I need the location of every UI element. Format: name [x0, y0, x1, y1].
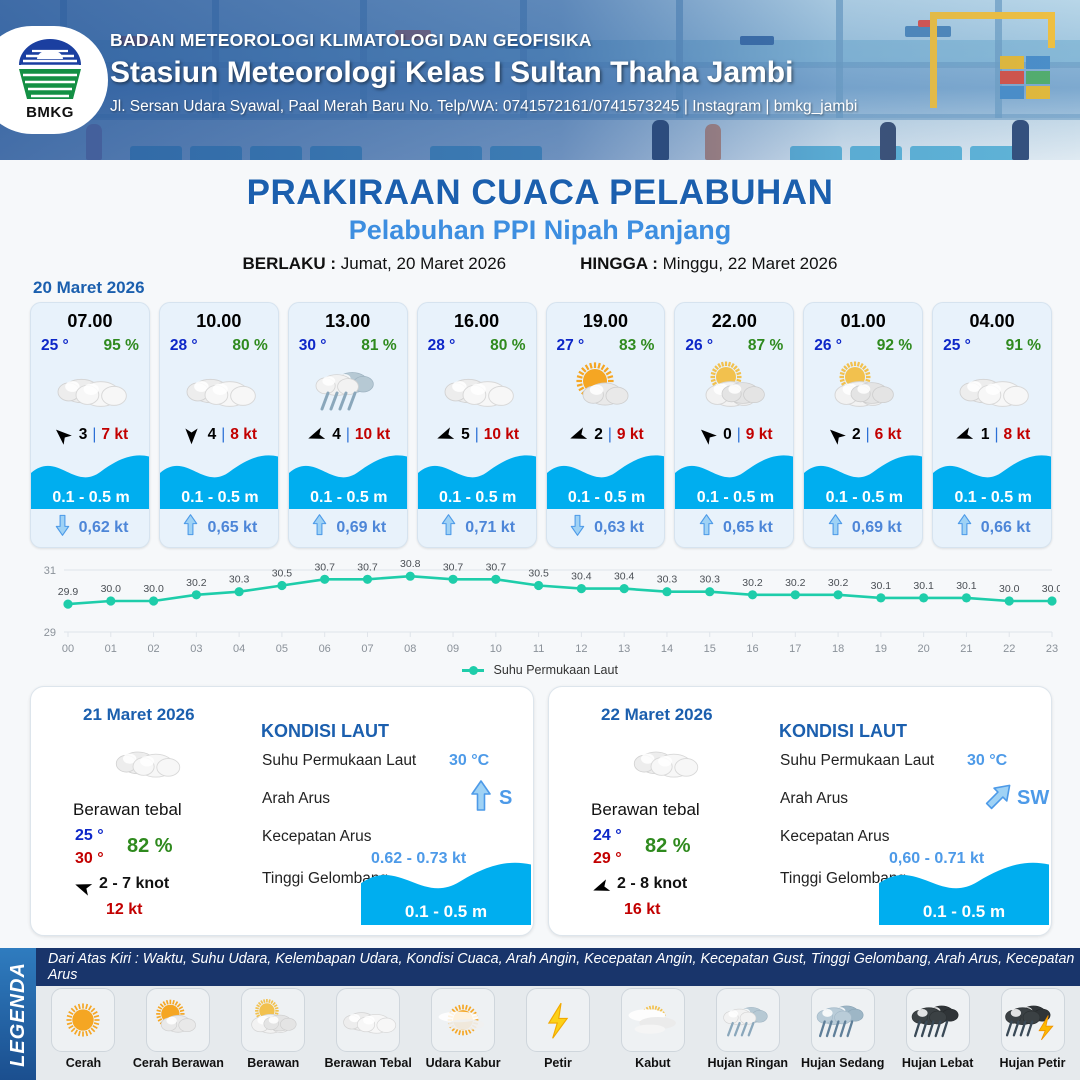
card-wind: 2 | 6 kt	[804, 425, 922, 445]
validity-row: BERLAKU : Jumat, 20 Maret 2026 HINGGA : …	[0, 254, 1080, 274]
svg-text:30.7: 30.7	[314, 561, 335, 573]
card-gust: 9 kt	[617, 426, 644, 444]
valid-from: BERLAKU : Jumat, 20 Maret 2026	[243, 254, 507, 274]
legend-item: Udara Kabur	[416, 988, 511, 1080]
current-speed-label: Kecepatan Arus	[262, 828, 371, 846]
card-temperature: 26 °	[685, 337, 713, 355]
svg-text:03: 03	[190, 643, 202, 655]
svg-text:15: 15	[704, 643, 716, 655]
card-wave-height: 0.1 - 0.5 m	[418, 489, 537, 507]
svg-text:30.2: 30.2	[785, 577, 806, 589]
wind-direction-arrow-icon	[305, 425, 327, 445]
svg-text:30.8: 30.8	[400, 558, 421, 570]
svg-text:30.7: 30.7	[357, 561, 378, 573]
wind-direction-arrow-icon	[696, 425, 718, 445]
current-direction-label: Arah Arus	[262, 790, 330, 808]
svg-text:30.3: 30.3	[229, 574, 250, 586]
card-current: 0,62 kt	[31, 514, 150, 541]
card-current-speed: 0,63 kt	[594, 519, 644, 537]
svg-text:30.4: 30.4	[614, 571, 635, 583]
legend-item: Hujan Ringan	[700, 988, 795, 1080]
valid-until-value: Minggu, 22 Maret 2026	[663, 254, 838, 273]
card-current: 0,69 kt	[289, 514, 408, 541]
legend-item-label: Cerah	[66, 1056, 101, 1070]
svg-text:08: 08	[404, 643, 416, 655]
panel-gust: 16 kt	[624, 901, 660, 919]
hujan-ringan-icon	[289, 359, 407, 419]
wind-direction-arrow-icon	[181, 425, 203, 445]
card-current-speed: 0,62 kt	[79, 519, 129, 537]
svg-text:30.3: 30.3	[700, 574, 721, 586]
svg-text:30.7: 30.7	[486, 561, 507, 573]
panel-temp-min: 24 °	[593, 827, 622, 845]
card-current-speed: 0,69 kt	[336, 519, 386, 537]
wind-gust-separator: |	[608, 426, 612, 444]
card-time: 13.00	[289, 311, 407, 332]
card-wind-speed: 4	[208, 426, 217, 444]
legend-item: Hujan Petir	[985, 988, 1080, 1080]
svg-text:02: 02	[147, 643, 159, 655]
svg-text:09: 09	[447, 643, 459, 655]
current-direction-value: S	[499, 787, 512, 810]
forecast-day-date: 20 Maret 2026	[33, 278, 145, 298]
panel-wave-height: 0.1 - 0.5 m	[879, 902, 1049, 922]
card-time: 19.00	[547, 311, 665, 332]
svg-text:07: 07	[361, 643, 373, 655]
svg-text:30.5: 30.5	[272, 568, 293, 580]
chart-legend: Suhu Permukaan Laut	[0, 663, 1080, 677]
card-humidity: 91 %	[1006, 337, 1041, 355]
svg-text:30.0: 30.0	[143, 583, 164, 595]
card-wind-speed: 2	[594, 426, 603, 444]
card-wind: 3 | 7 kt	[31, 425, 149, 445]
legend-item-label: Berawan	[247, 1056, 299, 1070]
sea-condition-title: KONDISI LAUT	[261, 721, 389, 742]
bmkg-logo: BMKG	[0, 26, 108, 134]
cerah-icon	[51, 988, 115, 1052]
wind-direction-arrow-icon	[52, 425, 74, 445]
hourly-forecast-row: 07.00 25 ° 95 % 3 | 7 kt 0.1 - 0.5 m 0,6…	[30, 302, 1052, 548]
svg-text:31: 31	[44, 565, 56, 577]
card-wave-height: 0.1 - 0.5 m	[547, 489, 666, 507]
berawan-icon	[241, 988, 305, 1052]
card-wind-speed: 5	[461, 426, 470, 444]
panel-condition: Berawan tebal	[73, 800, 182, 820]
svg-text:30.5: 30.5	[528, 568, 549, 580]
card-temperature: 27 °	[557, 337, 585, 355]
svg-text:30.1: 30.1	[871, 580, 892, 592]
berawan-tebal-icon	[418, 359, 536, 419]
svg-text:10: 10	[490, 643, 502, 655]
card-time: 10.00	[160, 311, 278, 332]
card-values: 30 ° 81 %	[289, 337, 407, 355]
legend-item-label: Kabut	[635, 1056, 670, 1070]
svg-text:30.0: 30.0	[101, 583, 122, 595]
panel-temp-min: 25 °	[75, 827, 104, 845]
valid-from-value: Jumat, 20 Maret 2026	[341, 254, 506, 273]
legend-item-label: Hujan Sedang	[801, 1056, 884, 1070]
svg-text:29.9: 29.9	[58, 586, 79, 598]
card-gust: 8 kt	[1004, 426, 1031, 444]
svg-text:20: 20	[918, 643, 930, 655]
legend-item-label: Hujan Petir	[1000, 1056, 1066, 1070]
legend-item: Berawan	[226, 988, 321, 1080]
hujan-lebat-icon	[906, 988, 970, 1052]
berawan-tebal-icon	[624, 735, 704, 787]
svg-text:30.1: 30.1	[956, 580, 977, 592]
daily-forecast-panels: 21 Maret 2026 Berawan tebal 25 ° 30 ° 82…	[30, 686, 1052, 936]
svg-text:30.1: 30.1	[913, 580, 934, 592]
current-direction-arrow-icon	[827, 514, 844, 541]
svg-text:29: 29	[44, 627, 56, 639]
hourly-card: 04.00 25 ° 91 % 1 | 8 kt 0.1 - 0.5 m 0,6…	[932, 302, 1052, 548]
legend-item-label: Hujan Ringan	[708, 1056, 789, 1070]
card-wind: 0 | 9 kt	[675, 425, 793, 445]
card-wind: 1 | 8 kt	[933, 425, 1051, 445]
card-time: 16.00	[418, 311, 536, 332]
agency-name: BADAN METEOROLOGI KLIMATOLOGI DAN GEOFIS…	[110, 30, 1040, 51]
svg-text:01: 01	[105, 643, 117, 655]
card-wave-height: 0.1 - 0.5 m	[933, 489, 1052, 507]
panel-temp-max: 29 °	[593, 850, 622, 868]
card-values: 26 ° 92 %	[804, 337, 922, 355]
hujan-ringan-icon	[716, 988, 780, 1052]
panel-wind: 2 - 8 knot	[617, 875, 687, 893]
card-current: 0,65 kt	[160, 514, 279, 541]
wind-gust-separator: |	[737, 426, 741, 444]
page-title: PRAKIRAAN CUACA PELABUHAN	[0, 173, 1080, 213]
current-direction-arrow-icon	[468, 780, 494, 812]
legend-item-label: Petir	[544, 1056, 572, 1070]
card-wave-height: 0.1 - 0.5 m	[160, 489, 279, 507]
panel-humidity: 82 %	[645, 835, 691, 858]
berawan-tebal-icon	[106, 735, 186, 787]
current-direction-label: Arah Arus	[780, 790, 848, 808]
hourly-card: 16.00 28 ° 80 % 5 | 10 kt 0.1 - 0.5 m 0,…	[417, 302, 537, 548]
svg-text:00: 00	[62, 643, 74, 655]
sst-label: Suhu Permukaan Laut	[262, 752, 416, 770]
current-direction-arrow-icon	[311, 514, 328, 541]
panel-gust: 12 kt	[106, 901, 142, 919]
svg-text:19: 19	[875, 643, 887, 655]
wind-direction-arrow-icon	[954, 425, 976, 445]
card-wind-speed: 3	[79, 426, 88, 444]
card-gust: 10 kt	[355, 426, 390, 444]
card-wave-height: 0.1 - 0.5 m	[31, 489, 150, 507]
cerah-berawan-icon	[146, 988, 210, 1052]
card-time: 07.00	[31, 311, 149, 332]
hujan-petir-icon	[1001, 988, 1065, 1052]
legend-item: Berawan Tebal	[321, 988, 416, 1080]
sst-chart: 2931000102030405060708091011121314151617…	[22, 556, 1060, 676]
valid-until-label: HINGGA :	[580, 254, 658, 273]
svg-text:23: 23	[1046, 643, 1058, 655]
card-wind-speed: 4	[332, 426, 341, 444]
current-direction-value: SW	[1017, 787, 1049, 810]
wind-gust-separator: |	[475, 426, 479, 444]
card-values: 28 ° 80 %	[160, 337, 278, 355]
current-direction-arrow-icon	[182, 514, 199, 541]
panel-condition: Berawan tebal	[591, 800, 700, 820]
valid-until: HINGGA : Minggu, 22 Maret 2026	[580, 254, 837, 274]
wind-direction-arrow-icon	[591, 877, 613, 895]
sst-label: Suhu Permukaan Laut	[780, 752, 934, 770]
legend-footer: LEGENDA Dari Atas Kiri : Waktu, Suhu Uda…	[0, 948, 1080, 1080]
card-temperature: 28 °	[428, 337, 456, 355]
card-gust: 8 kt	[230, 426, 257, 444]
legend-side-label: LEGENDA	[7, 962, 30, 1067]
hourly-card: 13.00 30 ° 81 % 4 | 10 kt 0.1 - 0.5 m 0,…	[288, 302, 408, 548]
card-wind: 4 | 10 kt	[289, 425, 407, 445]
chart-legend-swatch	[462, 669, 484, 672]
panel-temp-max: 30 °	[75, 850, 104, 868]
svg-text:30.0: 30.0	[999, 583, 1020, 595]
card-temperature: 30 °	[299, 337, 327, 355]
svg-text:30.2: 30.2	[186, 577, 207, 589]
card-gust: 10 kt	[484, 426, 519, 444]
legend-item-label: Hujan Lebat	[902, 1056, 974, 1070]
kabut-icon	[621, 988, 685, 1052]
svg-text:30.2: 30.2	[742, 577, 763, 589]
berawan-tebal-icon	[336, 988, 400, 1052]
berawan-tebal-icon	[933, 359, 1051, 419]
card-gust: 7 kt	[101, 426, 128, 444]
svg-text:14: 14	[661, 643, 673, 655]
svg-text:17: 17	[789, 643, 801, 655]
legend-item-label: Cerah Berawan	[133, 1056, 224, 1070]
wind-gust-separator: |	[866, 426, 870, 444]
card-time: 04.00	[933, 311, 1051, 332]
svg-text:18: 18	[832, 643, 844, 655]
hourly-card: 22.00 26 ° 87 % 0 | 9 kt 0.1 - 0.5 m 0,6…	[674, 302, 794, 548]
card-current: 0,65 kt	[675, 514, 794, 541]
svg-text:12: 12	[575, 643, 587, 655]
legend-note: Dari Atas Kiri : Waktu, Suhu Udara, Kele…	[48, 951, 1080, 983]
svg-text:30.2: 30.2	[828, 577, 849, 589]
petir-icon	[526, 988, 590, 1052]
wind-direction-arrow-icon	[567, 425, 589, 445]
card-time: 22.00	[675, 311, 793, 332]
contact-info: Jl. Sersan Udara Syawal, Paal Merah Baru…	[110, 98, 1040, 116]
svg-text:30.4: 30.4	[571, 571, 592, 583]
wind-gust-separator: |	[995, 426, 999, 444]
svg-text:11: 11	[533, 643, 544, 655]
svg-text:30.7: 30.7	[443, 561, 464, 573]
card-current-speed: 0,71 kt	[465, 519, 515, 537]
svg-text:04: 04	[233, 643, 245, 655]
card-current: 0,71 kt	[418, 514, 537, 541]
wind-direction-arrow-icon	[434, 425, 456, 445]
hujan-sedang-icon	[811, 988, 875, 1052]
daily-forecast-panel: 22 Maret 2026 Berawan tebal 24 ° 29 ° 82…	[548, 686, 1052, 936]
card-wave-height: 0.1 - 0.5 m	[804, 489, 923, 507]
bmkg-logo-mark	[13, 39, 87, 103]
svg-text:30.0: 30.0	[1042, 583, 1060, 595]
legend-item: Cerah Berawan	[131, 988, 226, 1080]
card-values: 25 ° 91 %	[933, 337, 1051, 355]
card-wind: 5 | 10 kt	[418, 425, 536, 445]
cerah-berawan-icon	[547, 359, 665, 419]
card-time: 01.00	[804, 311, 922, 332]
legend-icon-list: Cerah Cerah Berawan Berawan Berawan Teba…	[36, 988, 1080, 1080]
berawan-icon	[804, 359, 922, 419]
card-humidity: 80 %	[490, 337, 525, 355]
legend-item-label: Berawan Tebal	[325, 1056, 412, 1070]
card-wind-speed: 1	[981, 426, 990, 444]
card-values: 27 ° 83 %	[547, 337, 665, 355]
legend-item: Hujan Sedang	[795, 988, 890, 1080]
chart-legend-label: Suhu Permukaan Laut	[494, 663, 618, 677]
card-values: 28 ° 80 %	[418, 337, 536, 355]
sea-condition-title: KONDISI LAUT	[779, 721, 907, 742]
card-current: 0,69 kt	[804, 514, 923, 541]
wind-direction-arrow-icon	[825, 425, 847, 445]
legend-side-tab: LEGENDA	[0, 948, 36, 1080]
card-temperature: 25 °	[943, 337, 971, 355]
station-name: Stasiun Meteorologi Kelas I Sultan Thaha…	[110, 56, 1040, 90]
current-direction-arrow-icon	[440, 514, 457, 541]
panel-date: 21 Maret 2026	[83, 705, 195, 725]
svg-text:05: 05	[276, 643, 288, 655]
card-humidity: 95 %	[104, 337, 139, 355]
card-humidity: 80 %	[232, 337, 267, 355]
legend-note-bar: Dari Atas Kiri : Waktu, Suhu Udara, Kele…	[36, 948, 1080, 986]
svg-text:22: 22	[1003, 643, 1015, 655]
card-humidity: 83 %	[619, 337, 654, 355]
current-direction-arrow-icon	[54, 514, 71, 541]
card-current-speed: 0,65 kt	[207, 519, 257, 537]
card-current-speed: 0,65 kt	[723, 519, 773, 537]
legend-item: Hujan Lebat	[890, 988, 985, 1080]
current-direction-arrow-icon	[569, 514, 586, 541]
card-humidity: 87 %	[748, 337, 783, 355]
card-current: 0,63 kt	[547, 514, 666, 541]
berawan-tebal-icon	[31, 359, 149, 419]
card-humidity: 81 %	[361, 337, 396, 355]
card-values: 26 ° 87 %	[675, 337, 793, 355]
current-speed-label: Kecepatan Arus	[780, 828, 889, 846]
card-current-speed: 0,66 kt	[981, 519, 1031, 537]
page-subtitle: Pelabuhan PPI Nipah Panjang	[0, 215, 1080, 246]
panel-humidity: 82 %	[127, 835, 173, 858]
card-wave-height: 0.1 - 0.5 m	[289, 489, 408, 507]
current-direction-arrow-icon	[698, 514, 715, 541]
card-current-speed: 0,69 kt	[852, 519, 902, 537]
panel-wave-height: 0.1 - 0.5 m	[361, 902, 531, 922]
header-text-block: BADAN METEOROLOGI KLIMATOLOGI DAN GEOFIS…	[110, 30, 1040, 116]
hourly-card: 07.00 25 ° 95 % 3 | 7 kt 0.1 - 0.5 m 0,6…	[30, 302, 150, 548]
berawan-tebal-icon	[160, 359, 278, 419]
page-header: BMKG BADAN METEOROLOGI KLIMATOLOGI DAN G…	[0, 0, 1080, 160]
sst-value: 30 °C	[449, 752, 489, 770]
card-wind-speed: 0	[723, 426, 732, 444]
card-wave-height: 0.1 - 0.5 m	[675, 489, 794, 507]
udara-kabur-icon	[431, 988, 495, 1052]
card-gust: 9 kt	[746, 426, 773, 444]
current-direction-arrow-icon	[956, 514, 973, 541]
card-temperature: 25 °	[41, 337, 69, 355]
hourly-card: 10.00 28 ° 80 % 4 | 8 kt 0.1 - 0.5 m 0,6…	[159, 302, 279, 548]
sst-value: 30 °C	[967, 752, 1007, 770]
current-direction-arrow-icon	[986, 780, 1012, 812]
svg-text:06: 06	[319, 643, 331, 655]
card-wind: 2 | 9 kt	[547, 425, 665, 445]
svg-text:16: 16	[746, 643, 758, 655]
berawan-icon	[675, 359, 793, 419]
wind-gust-separator: |	[92, 426, 96, 444]
card-temperature: 28 °	[170, 337, 198, 355]
wind-direction-arrow-icon	[73, 877, 95, 895]
hourly-card: 01.00 26 ° 92 % 2 | 6 kt 0.1 - 0.5 m 0,6…	[803, 302, 923, 548]
wind-gust-separator: |	[221, 426, 225, 444]
legend-item: Petir	[511, 988, 606, 1080]
card-humidity: 92 %	[877, 337, 912, 355]
daily-forecast-panel: 21 Maret 2026 Berawan tebal 25 ° 30 ° 82…	[30, 686, 534, 936]
card-values: 25 ° 95 %	[31, 337, 149, 355]
wind-gust-separator: |	[346, 426, 350, 444]
valid-from-label: BERLAKU :	[243, 254, 337, 273]
hourly-card: 19.00 27 ° 83 % 2 | 9 kt 0.1 - 0.5 m 0,6…	[546, 302, 666, 548]
legend-item: Cerah	[36, 988, 131, 1080]
svg-text:21: 21	[960, 643, 972, 655]
bmkg-logo-text: BMKG	[26, 104, 74, 121]
panel-date: 22 Maret 2026	[601, 705, 713, 725]
card-temperature: 26 °	[814, 337, 842, 355]
svg-text:30.3: 30.3	[657, 574, 678, 586]
card-gust: 6 kt	[875, 426, 902, 444]
card-current: 0,66 kt	[933, 514, 1052, 541]
card-wind-speed: 2	[852, 426, 861, 444]
legend-item: Kabut	[605, 988, 700, 1080]
panel-wind: 2 - 7 knot	[99, 875, 169, 893]
card-wind: 4 | 8 kt	[160, 425, 278, 445]
legend-item-label: Udara Kabur	[426, 1056, 501, 1070]
svg-text:13: 13	[618, 643, 630, 655]
